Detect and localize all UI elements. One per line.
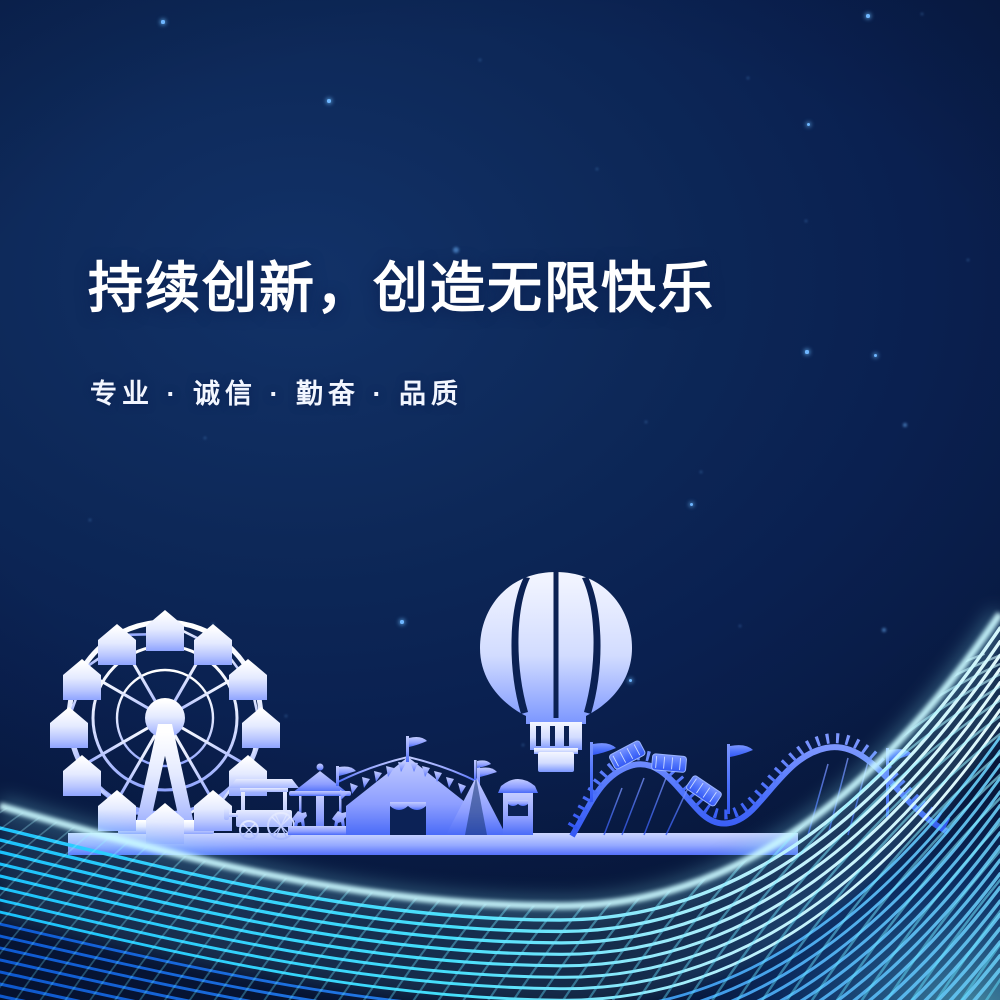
neon-wave-mesh bbox=[0, 0, 1000, 1000]
page-subtitle: 专业 · 诚信 · 勤奋 · 品质 bbox=[90, 372, 928, 411]
poster-canvas: 持续创新，创造无限快乐 专业 · 诚信 · 勤奋 · 品质 bbox=[0, 0, 1000, 1000]
page-title: 持续创新，创造无限快乐 bbox=[88, 258, 928, 320]
headline-block: 持续创新，创造无限快乐 专业 · 诚信 · 勤奋 · 品质 bbox=[88, 258, 928, 411]
